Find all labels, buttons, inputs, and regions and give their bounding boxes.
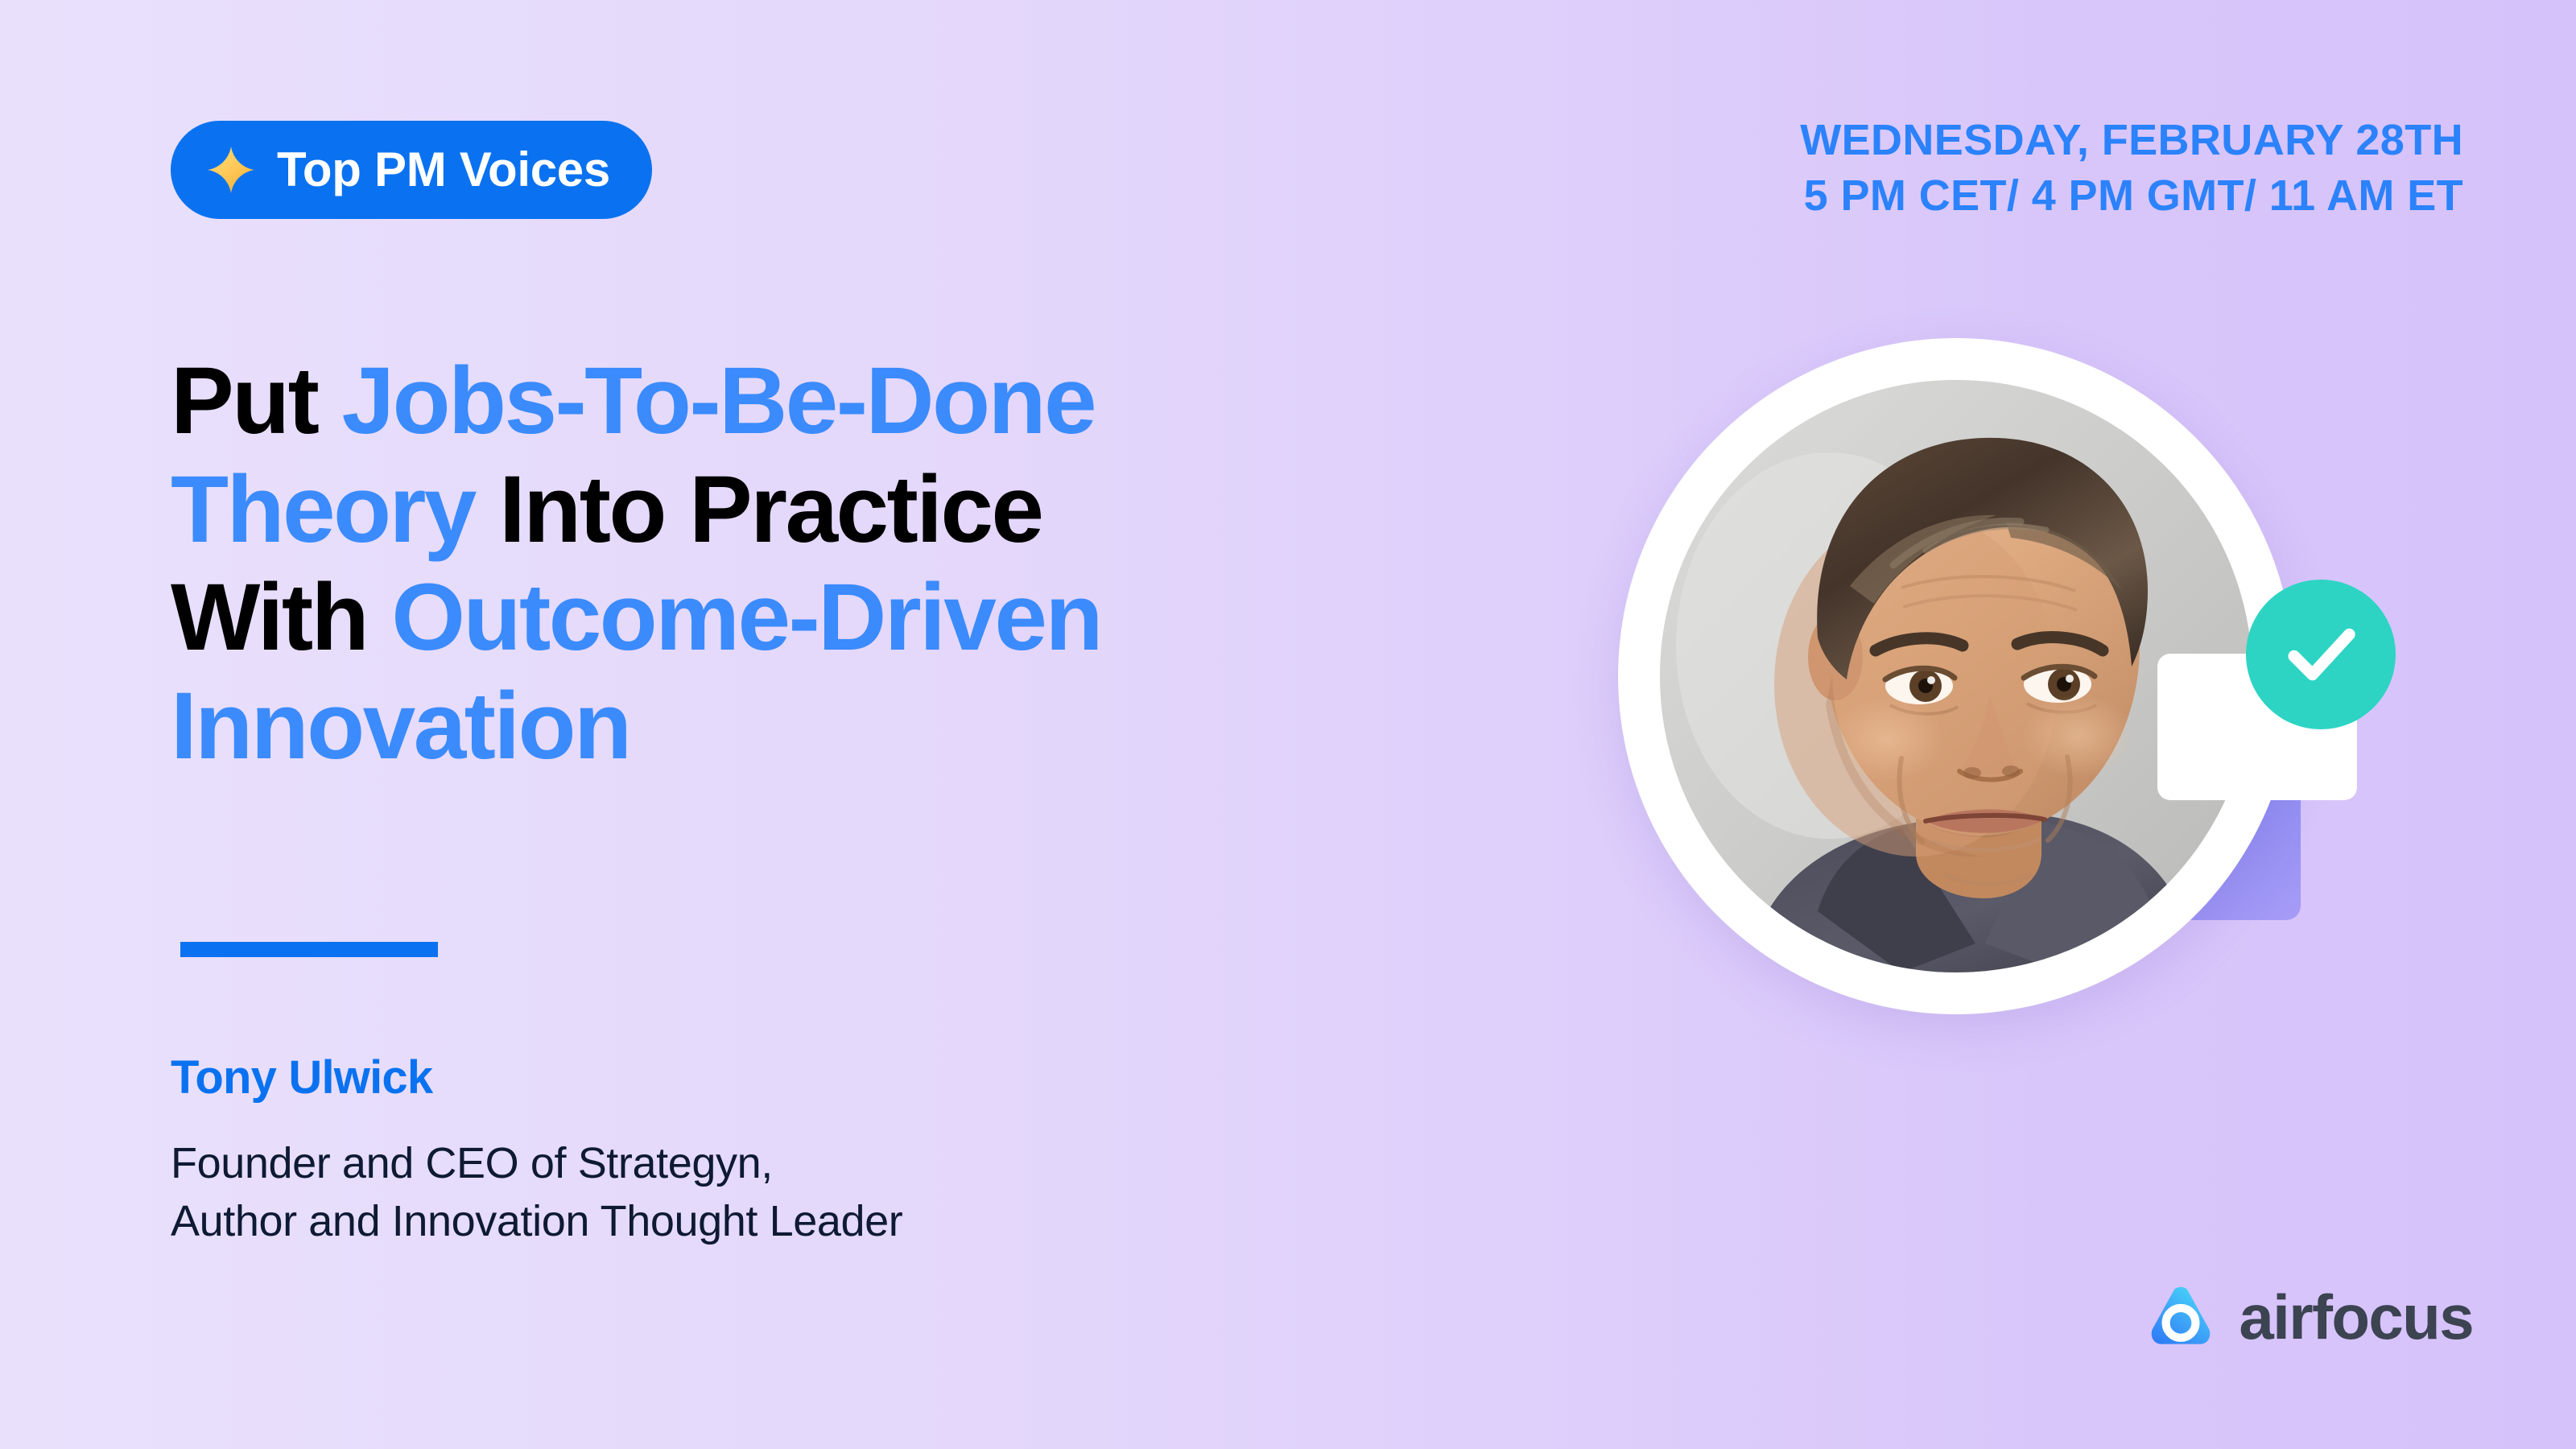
- speaker-name: Tony Ulwick: [171, 1055, 432, 1101]
- speaker-role: Founder and CEO of Strategyn, Author and…: [171, 1135, 902, 1251]
- left-content-column: Top PM Voices Put Jobs-To-Be-Done Theory…: [171, 0, 1587, 1449]
- speaker-role-line2: Author and Innovation Thought Leader: [171, 1197, 902, 1245]
- event-datetime: WEDNESDAY, FEBRUARY 28th 5 PM CET/ 4 PM …: [1800, 113, 2463, 224]
- headline-line2-black: Into Practice: [475, 456, 1042, 563]
- airfocus-logo-icon: [2144, 1280, 2218, 1354]
- speaker-role-line1: Founder and CEO of Strategyn,: [171, 1139, 773, 1187]
- headline-line4-accent: Innovation: [171, 673, 630, 779]
- headline-line1-accent: Jobs-To-Be-Done: [341, 348, 1095, 454]
- sparkle-icon: [206, 145, 256, 195]
- right-visual-column: WEDNESDAY, FEBRUARY 28th 5 PM CET/ 4 PM …: [1562, 0, 2576, 1449]
- divider: [180, 942, 438, 957]
- top-pm-voices-badge: Top PM Voices: [171, 121, 652, 219]
- verified-badge: [2246, 580, 2396, 729]
- page-title: Put Jobs-To-Be-Done Theory Into Practice…: [171, 347, 1539, 780]
- airfocus-logo: airfocus: [2144, 1280, 2473, 1354]
- speaker-photo-composition: [1610, 338, 2415, 1063]
- check-icon: [2279, 613, 2363, 696]
- headline-line2-accent: Theory: [171, 456, 475, 563]
- event-date-line: WEDNESDAY, FEBRUARY 28th: [1800, 113, 2463, 168]
- badge-label: Top PM Voices: [277, 146, 610, 194]
- brand-name: airfocus: [2239, 1286, 2473, 1348]
- headline-line3-accent: Outcome-Driven: [391, 564, 1101, 671]
- event-time-line: 5 PM CET/ 4 PM GMT/ 11 AM ET: [1800, 168, 2463, 224]
- webinar-promo-banner: Top PM Voices Put Jobs-To-Be-Done Theory…: [0, 0, 2576, 1449]
- headline-line3-black: With: [171, 564, 391, 671]
- headline-line1-black: Put: [171, 348, 341, 454]
